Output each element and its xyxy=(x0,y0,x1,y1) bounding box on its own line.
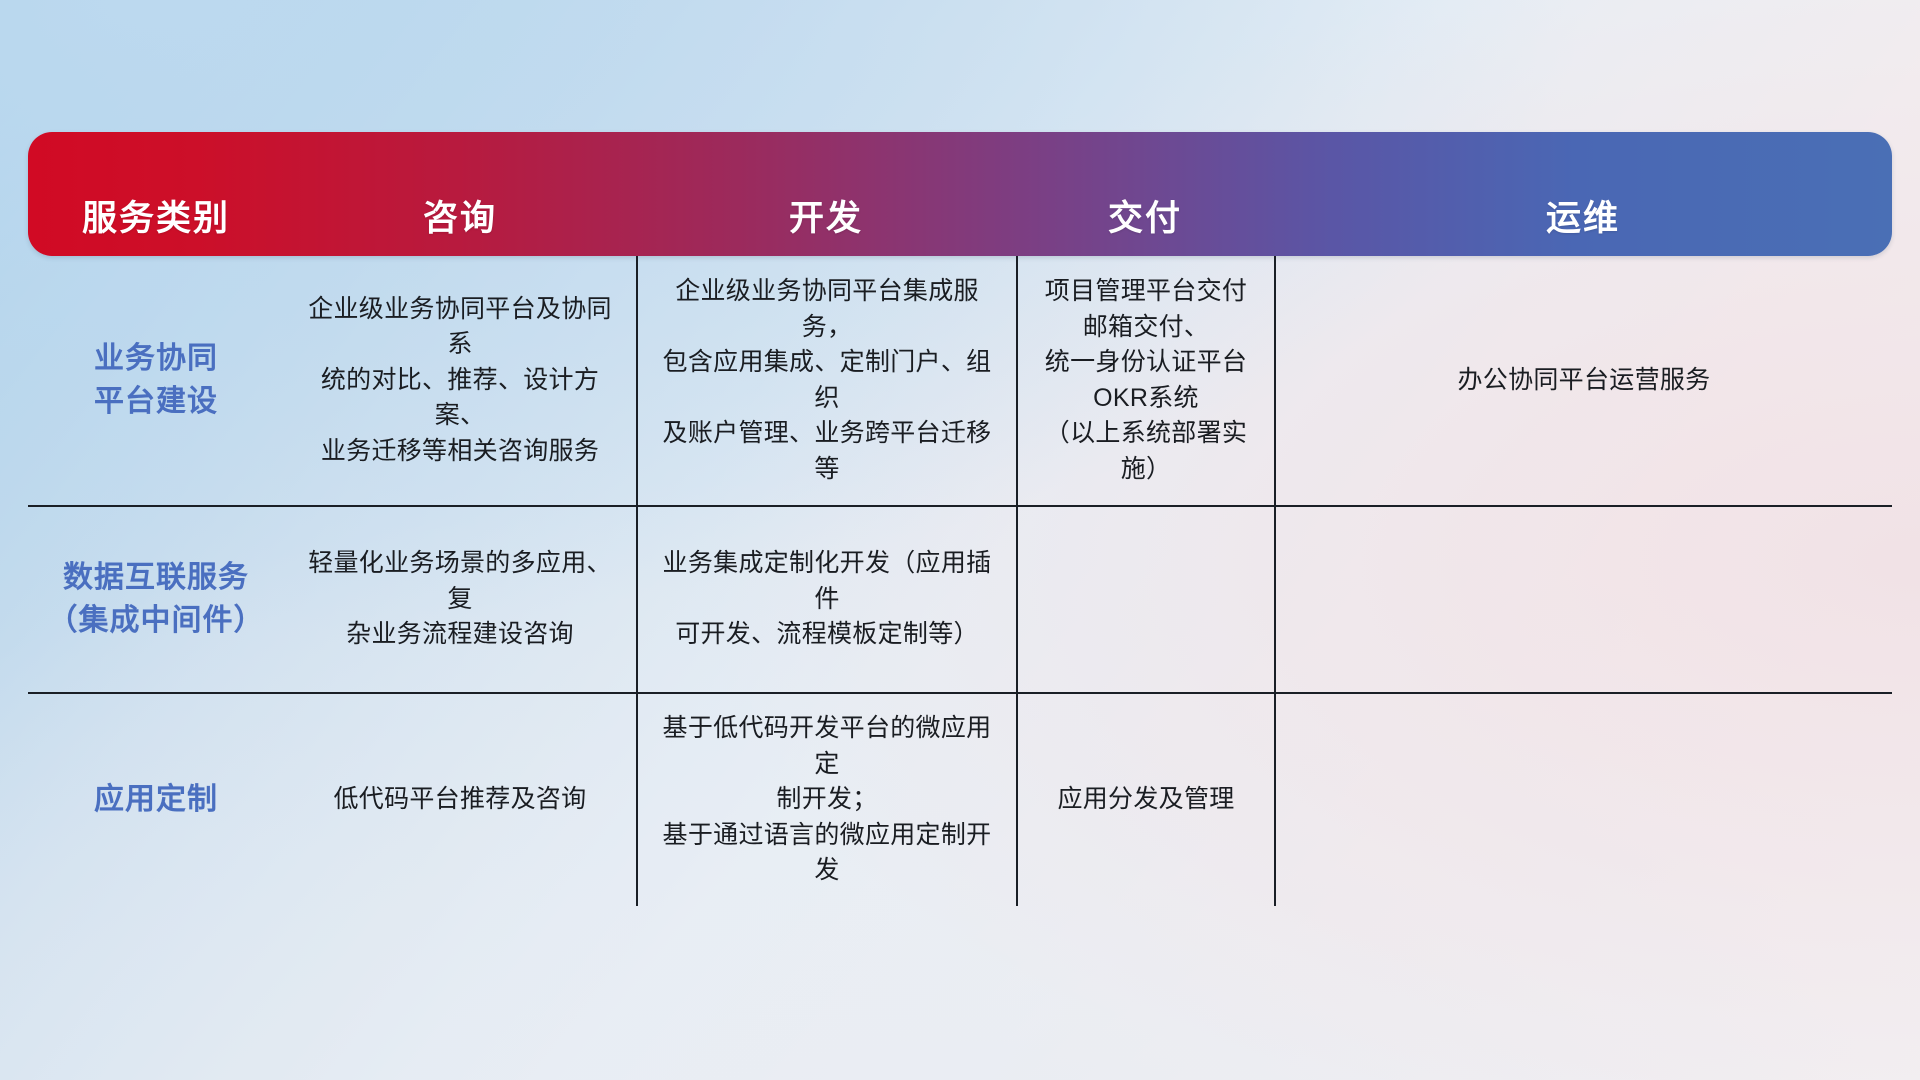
row-label-line: 平台建设 xyxy=(94,381,218,424)
table-cell-operations: 办公协同平台运营服务 xyxy=(1274,256,1892,505)
row-label-line: 数据互联服务 xyxy=(48,557,265,600)
slide-canvas: 服务类别 咨询 开发 交付 运维 业务协同平台建设 企业级业务协同平台及协同系统… xyxy=(0,0,1920,1080)
cell-line: OKR系统 xyxy=(1032,381,1260,417)
table-cell-delivery xyxy=(1016,507,1274,692)
cell-line: （以上系统部署实施） xyxy=(1032,416,1260,487)
row-label-line: 业务协同 xyxy=(94,338,218,381)
table-cell-consulting: 轻量化业务场景的多应用、复杂业务流程建设咨询 xyxy=(284,507,636,692)
table-cell-consulting: 低代码平台推荐及咨询 xyxy=(284,694,636,906)
row-label-data-interconnect: 数据互联服务（集成中间件） xyxy=(28,507,284,692)
table-row: 业务协同平台建设 企业级业务协同平台及协同系统的对比、推荐、设计方案、业务迁移等… xyxy=(28,256,1892,505)
table-header-row: 服务类别 咨询 开发 交付 运维 xyxy=(28,132,1892,256)
cell-line: 业务迁移等相关咨询服务 xyxy=(298,434,622,470)
cell-line: 包含应用集成、定制门户、组织 xyxy=(652,345,1002,416)
table-cell-delivery: 应用分发及管理 xyxy=(1016,694,1274,906)
cell-line: 项目管理平台交付 xyxy=(1032,274,1260,310)
table-header-cell-service-category: 服务类别 xyxy=(28,132,284,256)
service-matrix-table: 服务类别 咨询 开发 交付 运维 业务协同平台建设 企业级业务协同平台及协同系统… xyxy=(28,132,1892,906)
cell-line: 可开发、流程模板定制等） xyxy=(652,617,1002,653)
table-cell-operations xyxy=(1274,507,1892,692)
table-header-cell-development: 开发 xyxy=(636,132,1016,256)
row-label-app-customization: 应用定制 xyxy=(28,694,284,906)
table-header-cell-delivery: 交付 xyxy=(1016,132,1274,256)
cell-line: 企业级业务协同平台集成服务， xyxy=(652,274,1002,345)
cell-line: 应用分发及管理 xyxy=(1057,782,1234,818)
table-cell-operations xyxy=(1274,694,1892,906)
table-header-cell-consulting: 咨询 xyxy=(284,132,636,256)
table-body: 业务协同平台建设 企业级业务协同平台及协同系统的对比、推荐、设计方案、业务迁移等… xyxy=(28,256,1892,906)
cell-line: 统的对比、推荐、设计方案、 xyxy=(298,363,622,434)
cell-line: 业务集成定制化开发（应用插件 xyxy=(652,546,1002,617)
cell-line: 及账户管理、业务跨平台迁移等 xyxy=(652,416,1002,487)
cell-line: 杂业务流程建设咨询 xyxy=(298,617,622,653)
cell-line: 企业级业务协同平台及协同系 xyxy=(298,292,622,363)
table-row: 数据互联服务（集成中间件） 轻量化业务场景的多应用、复杂业务流程建设咨询 业务集… xyxy=(28,505,1892,692)
cell-line: 邮箱交付、 xyxy=(1032,310,1260,346)
cell-line: 基于低代码开发平台的微应用定 xyxy=(652,711,1002,782)
table-cell-development: 企业级业务协同平台集成服务，包含应用集成、定制门户、组织及账户管理、业务跨平台迁… xyxy=(636,256,1016,505)
table-header-cell-operations: 运维 xyxy=(1274,132,1892,256)
row-label-line: 应用定制 xyxy=(94,779,218,822)
cell-line: 轻量化业务场景的多应用、复 xyxy=(298,546,622,617)
table-cell-development: 基于低代码开发平台的微应用定制开发；基于通过语言的微应用定制开发 xyxy=(636,694,1016,906)
cell-line: 办公协同平台运营服务 xyxy=(1457,363,1710,399)
table-cell-delivery: 项目管理平台交付邮箱交付、统一身份认证平台OKR系统（以上系统部署实施） xyxy=(1016,256,1274,505)
table-cell-consulting: 企业级业务协同平台及协同系统的对比、推荐、设计方案、业务迁移等相关咨询服务 xyxy=(284,256,636,505)
cell-line: 基于通过语言的微应用定制开发 xyxy=(652,818,1002,889)
table-cell-development: 业务集成定制化开发（应用插件可开发、流程模板定制等） xyxy=(636,507,1016,692)
row-label-business-collaboration: 业务协同平台建设 xyxy=(28,256,284,505)
cell-line: 统一身份认证平台 xyxy=(1032,345,1260,381)
cell-line: 低代码平台推荐及咨询 xyxy=(333,782,586,818)
table-row: 应用定制 低代码平台推荐及咨询 基于低代码开发平台的微应用定制开发；基于通过语言… xyxy=(28,692,1892,906)
row-label-line: （集成中间件） xyxy=(48,600,265,643)
cell-line: 制开发； xyxy=(652,782,1002,818)
